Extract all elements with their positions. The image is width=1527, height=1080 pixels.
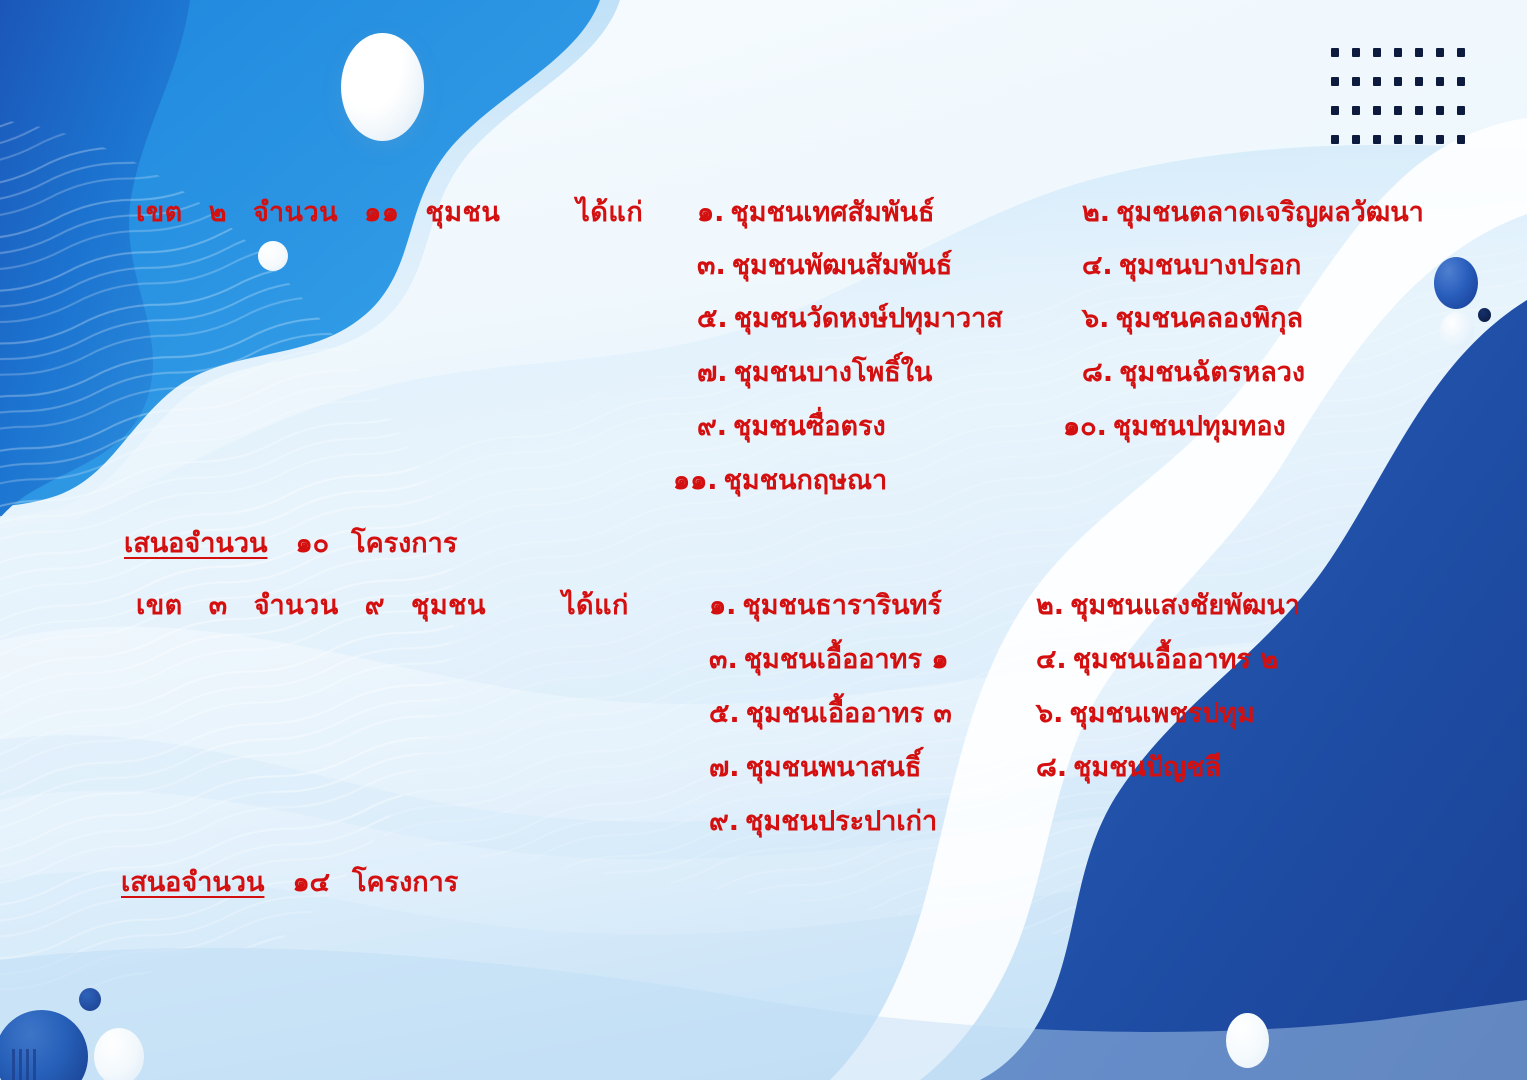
zone-3-header-word-2: จำนวน [254,583,339,626]
zone-3-community-7-number: ๗. [709,752,740,783]
zone-2-summary-label: เสนอจำนวน [124,528,267,559]
zone-2-community-8: ๘.ชุมชนฉัตรหลวง [1082,350,1305,393]
zone-2-community-5: ๕.ชุมชนวัดหงษ์ปทุมาวาส [697,296,1003,339]
zone-2-community-2-number: ๒. [1082,197,1110,228]
zone-2-header-word-3: ๑๑ [364,190,399,233]
zone-3-community-1-number: ๑. [709,590,736,621]
zone-2-community-5-number: ๕. [697,303,728,334]
zone-2-community-1: ๑.ชุมชนเทศสัมพันธ์ [697,190,935,233]
zone-2-community-11-name: ชุมชนกฤษณา [724,465,888,496]
zone-2-community-8-name: ชุมชนฉัตรหลวง [1119,357,1305,388]
zone-3-community-6: ๖.ชุมชนเพชรปทุม [1036,691,1255,734]
zone-3-community-8-number: ๘. [1036,752,1067,783]
zone-3-header-word-3: ๙ [365,583,385,626]
zone-3-community-1-name: ชุมชนธารารินทร์ [742,590,941,621]
zone-2-summary-value: ๑๐ [295,528,329,559]
slide-content: เขต ๒ จำนวน ๑๑ ชุมชน ได้แก่ ๑.ชุมชนเทศสั… [0,0,1527,1080]
zone-3-summary: เสนอจำนวน๑๔โครงการ [121,860,458,903]
zone-3-header: เขต ๓ จำนวน ๙ ชุมชน ได้แก่ [136,583,629,626]
zone-3-community-4-number: ๔. [1036,644,1067,675]
zone-2-community-7-number: ๗. [697,357,728,388]
zone-2-community-2-name: ชุมชนตลาดเจริญผลวัฒนา [1116,197,1424,228]
zone-2-community-2: ๒.ชุมชนตลาดเจริญผลวัฒนา [1082,190,1424,233]
zone-2-community-11: ๑๑.ชุมชนกฤษณา [673,458,887,501]
zone-2-community-11-number: ๑๑. [673,465,718,496]
slide-canvas: เขต ๒ จำนวน ๑๑ ชุมชน ได้แก่ ๑.ชุมชนเทศสั… [0,0,1527,1080]
zone-3-community-3-number: ๓. [709,644,738,675]
zone-2-community-7-name: ชุมชนบางโพธิ์ใน [734,357,933,388]
zone-2-header-word-0: เขต [136,190,183,233]
zone-2-header-word-5: ได้แก่ [576,190,643,233]
zone-2-community-7: ๗.ชุมชนบางโพธิ์ใน [697,350,932,393]
zone-2-header-word-2: จำนวน [253,190,338,233]
zone-3-community-2-name: ชุมชนแสงชัยพัฒนา [1070,590,1300,621]
zone-3-summary-unit: โครงการ [352,867,458,898]
zone-2-community-10-number: ๑๐. [1063,411,1107,442]
zone-3-community-5: ๕.ชุมชนเอื้ออาทร ๓ [709,691,952,734]
zone-3-summary-label: เสนอจำนวน [121,867,264,898]
zone-3-community-9: ๙.ชุมชนประปาเก่า [709,799,937,842]
zone-3-community-4: ๔.ชุมชนเอื้ออาทร ๒ [1036,637,1278,680]
zone-2-community-3-name: ชุมชนพัฒนสัมพันธ์ [732,250,953,281]
zone-2-community-10-name: ชุมชนปทุมทอง [1113,411,1286,442]
zone-2-community-4: ๔.ชุมชนบางปรอก [1082,243,1301,286]
zone-3-community-7: ๗.ชุมชนพนาสนธิ์ [709,745,921,788]
zone-2-community-3: ๓.ชุมชนพัฒนสัมพันธ์ [697,243,952,286]
zone-3-community-7-name: ชุมชนพนาสนธิ์ [746,752,922,783]
zone-3-header-word-0: เขต [136,583,183,626]
zone-2-header: เขต ๒ จำนวน ๑๑ ชุมชน ได้แก่ [136,190,643,233]
zone-3-header-word-4: ชุมชน [411,583,486,626]
zone-3-community-5-name: ชุมชนเอื้ออาทร ๓ [746,698,952,729]
zone-3-community-8-name: ชุมชนปัญชลี [1073,752,1221,783]
zone-3-community-5-number: ๕. [709,698,740,729]
zone-3-community-3-name: ชุมชนเอื้ออาทร ๑ [744,644,949,675]
zone-2-community-9: ๙.ชุมชนซื่อตรง [697,404,886,447]
zone-2-community-4-name: ชุมชนบางปรอก [1119,250,1302,281]
zone-2-community-3-number: ๓. [697,250,726,281]
zone-3-header-word-1: ๓ [209,583,228,626]
zone-2-summary-unit: โครงการ [351,528,457,559]
zone-3-community-6-number: ๖. [1036,698,1063,729]
zone-3-community-8: ๘.ชุมชนปัญชลี [1036,745,1221,788]
zone-2-community-6-number: ๖. [1082,303,1109,334]
zone-2-community-4-number: ๔. [1082,250,1113,281]
zone-3-community-1: ๑.ชุมชนธารารินทร์ [709,583,942,626]
zone-2-summary: เสนอจำนวน๑๐โครงการ [124,521,457,564]
zone-2-community-5-name: ชุมชนวัดหงษ์ปทุมาวาส [734,303,1003,334]
zone-3-community-4-name: ชุมชนเอื้ออาทร ๒ [1073,644,1278,675]
zone-2-community-6-name: ชุมชนคลองพิกุล [1115,303,1303,334]
zone-3-community-9-number: ๙. [709,806,739,837]
zone-2-community-9-number: ๙. [697,411,727,442]
zone-2-header-word-4: ชุมชน [425,190,500,233]
zone-2-community-8-number: ๘. [1082,357,1113,388]
zone-3-summary-value: ๑๔ [292,867,330,898]
zone-3-community-2: ๒.ชุมชนแสงชัยพัฒนา [1036,583,1300,626]
zone-2-community-1-number: ๑. [697,197,724,228]
zone-3-community-6-name: ชุมชนเพชรปทุม [1069,698,1255,729]
zone-2-community-9-name: ชุมชนซื่อตรง [733,411,886,442]
zone-2-community-6: ๖.ชุมชนคลองพิกุล [1082,296,1303,339]
zone-2-header-word-1: ๒ [209,190,227,233]
zone-3-community-3: ๓.ชุมชนเอื้ออาทร ๑ [709,637,949,680]
zone-3-community-9-name: ชุมชนประปาเก่า [745,806,937,837]
zone-3-community-2-number: ๒. [1036,590,1064,621]
zone-3-header-word-5: ได้แก่ [562,583,629,626]
zone-2-community-1-name: ชุมชนเทศสัมพันธ์ [730,197,934,228]
zone-2-community-10: ๑๐.ชุมชนปทุมทอง [1063,404,1286,447]
